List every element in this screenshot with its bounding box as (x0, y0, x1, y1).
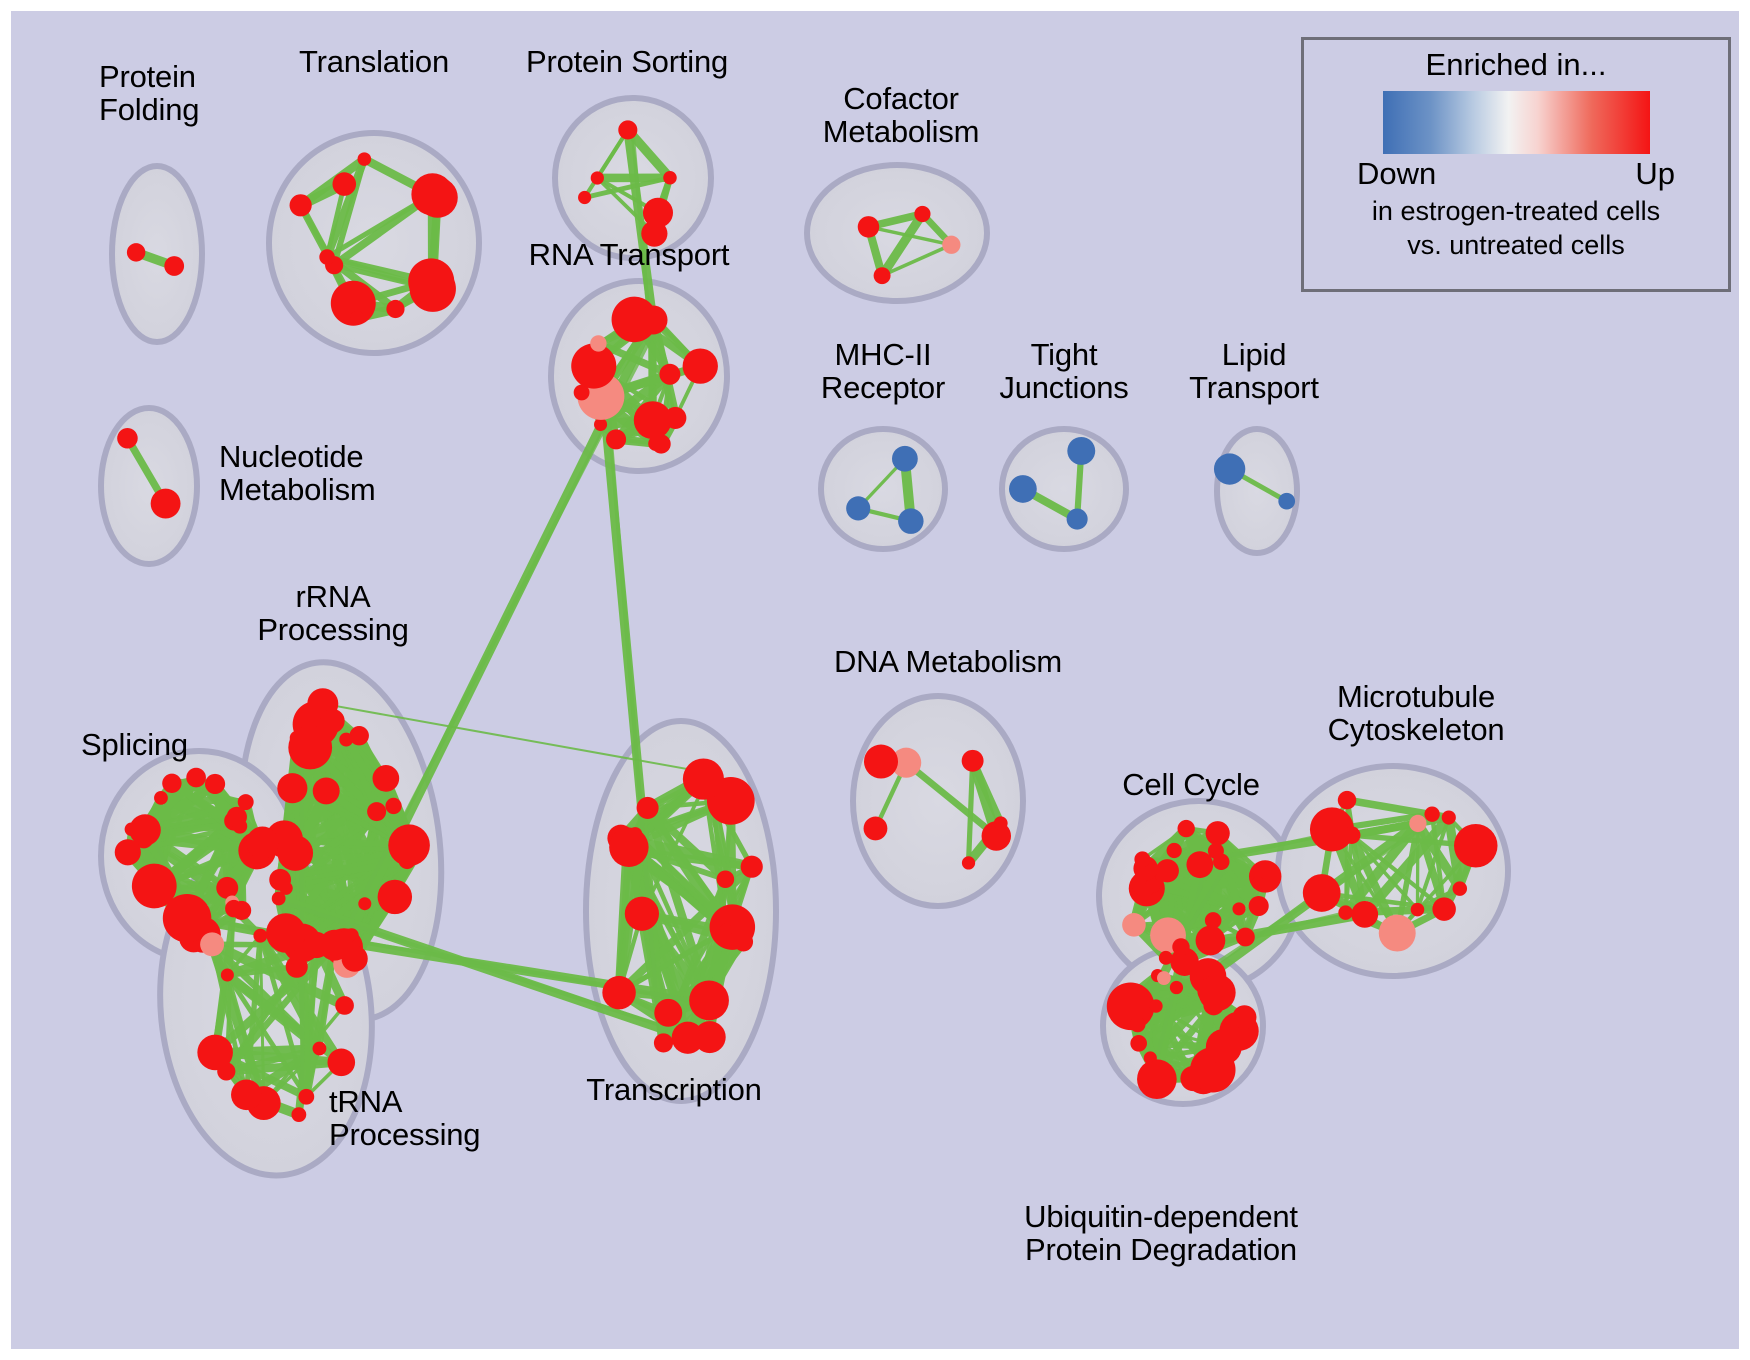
cluster-label-protein-folding: Protein Folding (99, 61, 199, 127)
network-node (205, 774, 225, 794)
legend-caption-line2: vs. untreated cells (1304, 230, 1728, 260)
network-node (1149, 999, 1162, 1012)
network-node (659, 364, 680, 385)
network-node (288, 726, 332, 770)
network-node (127, 243, 145, 261)
network-node (1409, 815, 1426, 832)
network-node (1172, 938, 1189, 955)
network-node (298, 1089, 314, 1105)
network-node (231, 1079, 262, 1110)
network-node (1278, 493, 1295, 510)
network-node (1067, 508, 1088, 529)
cluster-ellipse-dna-metabolism (853, 696, 1023, 906)
network-node (683, 348, 718, 383)
network-node (217, 1062, 235, 1080)
network-node (606, 429, 626, 449)
cluster-ellipse-mhc-ii-receptor (821, 429, 945, 549)
network-node (1351, 901, 1378, 928)
network-node (1157, 971, 1171, 985)
network-node (388, 824, 430, 866)
cluster-ellipse-protein-folding (112, 166, 202, 342)
network-node (186, 768, 206, 788)
network-node (1159, 951, 1173, 965)
network-node (874, 267, 891, 284)
network-node (1338, 791, 1356, 809)
cluster-label-tight-junctions: Tight Junctions (999, 339, 1128, 405)
network-node (319, 249, 335, 265)
network-node (1236, 928, 1255, 947)
network-node (1122, 913, 1146, 937)
network-node (664, 407, 686, 429)
network-node (591, 171, 604, 184)
network-node (1232, 902, 1245, 915)
network-node (1178, 820, 1195, 837)
cluster-label-transcription: Transcription (586, 1074, 761, 1107)
cluster-label-splicing: Splicing (81, 729, 188, 762)
network-node (386, 300, 404, 318)
network-node (672, 1022, 704, 1054)
network-node (269, 869, 291, 891)
network-node (590, 335, 606, 351)
network-node (1338, 905, 1352, 919)
network-node (719, 923, 732, 936)
legend-box: Enriched in... Down Up in estrogen-treat… (1301, 37, 1731, 292)
cluster-label-rrna-processing: rRNA Processing (257, 581, 408, 647)
cluster-label-lipid-transport: Lipid Transport (1189, 339, 1319, 405)
legend-low-label: Down (1357, 156, 1436, 192)
network-node (1123, 989, 1139, 1005)
network-node (200, 932, 224, 956)
network-node (253, 929, 267, 943)
legend-high-label: Up (1635, 156, 1675, 192)
legend-endpoints: Down Up (1357, 156, 1675, 192)
network-node (291, 1107, 306, 1122)
network-node (1232, 1005, 1256, 1029)
network-node (1442, 810, 1456, 824)
network-node (1206, 821, 1230, 845)
network-node (1454, 824, 1498, 868)
network-node (663, 171, 677, 185)
network-node (221, 969, 234, 982)
network-node (411, 173, 453, 215)
network-node (898, 508, 923, 533)
network-node (625, 897, 659, 931)
cluster-label-rna-transport: RNA Transport (529, 239, 730, 272)
network-node (319, 930, 350, 961)
legend-gradient-bar (1383, 91, 1650, 154)
network-node (734, 932, 753, 951)
network-node (846, 496, 870, 520)
network-node (1156, 859, 1179, 882)
cluster-label-mhc-ii-receptor: MHC-II Receptor (821, 339, 945, 405)
network-node (408, 258, 454, 304)
network-node (962, 856, 975, 869)
network-node (129, 814, 160, 845)
network-node (1180, 1066, 1205, 1091)
network-node (1252, 877, 1265, 890)
network-node (332, 172, 356, 196)
network-node (942, 236, 960, 254)
network-node (1186, 851, 1213, 878)
network-node (1379, 915, 1416, 952)
cluster-ellipse-nucleotide-metabolism (101, 408, 197, 564)
network-node (962, 750, 984, 772)
network-node (1130, 1017, 1146, 1033)
network-node (335, 996, 354, 1015)
network-node (321, 709, 345, 733)
network-node (858, 216, 879, 237)
legend-caption-line1: in estrogen-treated cells (1304, 196, 1728, 226)
network-node (1067, 437, 1095, 465)
figure-root: Protein FoldingTranslationProtein Sortin… (0, 0, 1750, 1360)
network-node (339, 733, 353, 747)
network-node (1453, 881, 1467, 895)
network-node (618, 120, 637, 139)
network-node (1130, 1035, 1147, 1052)
network-node (864, 817, 888, 841)
network-node (578, 191, 591, 204)
network-node (286, 956, 308, 978)
network-node (154, 791, 168, 805)
network-node (1196, 926, 1226, 956)
cluster-label-ubiquitin-protein-degradation: Ubiquitin-dependent Protein Degradation (1024, 1201, 1298, 1267)
cluster-label-cofactor-metabolism: Cofactor Metabolism (823, 83, 980, 149)
network-node (151, 489, 181, 519)
network-node (683, 758, 724, 799)
network-node (164, 256, 184, 276)
network-node (1249, 896, 1269, 916)
cluster-label-translation: Translation (299, 46, 449, 79)
network-node (994, 816, 1008, 830)
network-node (864, 745, 898, 779)
network-node (163, 894, 211, 942)
network-node (154, 876, 171, 893)
network-node (689, 980, 729, 1020)
network-node (654, 999, 682, 1027)
network-node (717, 870, 735, 888)
network-node (1170, 981, 1183, 994)
cluster-label-microtubule-cytoskeleton: Microtubule Cytoskeleton (1328, 681, 1505, 747)
network-node (358, 152, 372, 166)
network-canvas: Protein FoldingTranslationProtein Sortin… (11, 11, 1739, 1349)
network-node (1009, 475, 1037, 503)
network-node (602, 976, 635, 1009)
network-node (1424, 806, 1439, 821)
network-node (892, 446, 918, 472)
cluster-label-dna-metabolism: DNA Metabolism (834, 646, 1062, 679)
network-node (358, 897, 371, 910)
network-node (648, 436, 663, 451)
network-node (637, 797, 659, 819)
cluster-label-nucleotide-metabolism: Nucleotide Metabolism (219, 441, 376, 507)
network-node (1432, 897, 1455, 920)
network-node (290, 194, 312, 216)
network-node (373, 765, 400, 792)
network-node (1206, 1029, 1242, 1065)
network-node (1134, 851, 1150, 867)
network-node (1167, 843, 1182, 858)
network-node (350, 311, 364, 325)
cluster-label-protein-sorting: Protein Sorting (526, 46, 728, 79)
network-node (594, 418, 607, 431)
network-node (1214, 453, 1245, 484)
network-node (741, 856, 763, 878)
network-node (571, 343, 616, 388)
network-node (266, 913, 305, 952)
network-node (1411, 903, 1425, 917)
legend-title: Enriched in... (1304, 47, 1728, 83)
network-node (1146, 1060, 1170, 1084)
network-node (246, 827, 278, 859)
network-node (1303, 874, 1341, 912)
network-node (313, 1042, 327, 1056)
network-node (609, 828, 648, 867)
network-node (117, 428, 138, 449)
network-node (1213, 853, 1229, 869)
network-node (639, 305, 668, 334)
network-node (367, 802, 386, 821)
cluster-label-trna-processing: tRNA Processing (329, 1086, 480, 1152)
network-node (1203, 995, 1224, 1016)
network-node (313, 777, 340, 804)
network-node (1343, 826, 1361, 844)
network-node (385, 798, 401, 814)
network-node (378, 880, 412, 914)
network-node (327, 1049, 355, 1077)
cluster-ellipse-lipid-transport (1217, 429, 1297, 553)
network-node (162, 774, 181, 793)
network-node (277, 773, 307, 803)
cluster-label-cell-cycle: Cell Cycle (1122, 769, 1260, 802)
network-node (225, 900, 242, 917)
network-node (238, 794, 254, 810)
network-node (914, 206, 930, 222)
network-node (216, 877, 238, 899)
network-node (654, 1033, 673, 1052)
